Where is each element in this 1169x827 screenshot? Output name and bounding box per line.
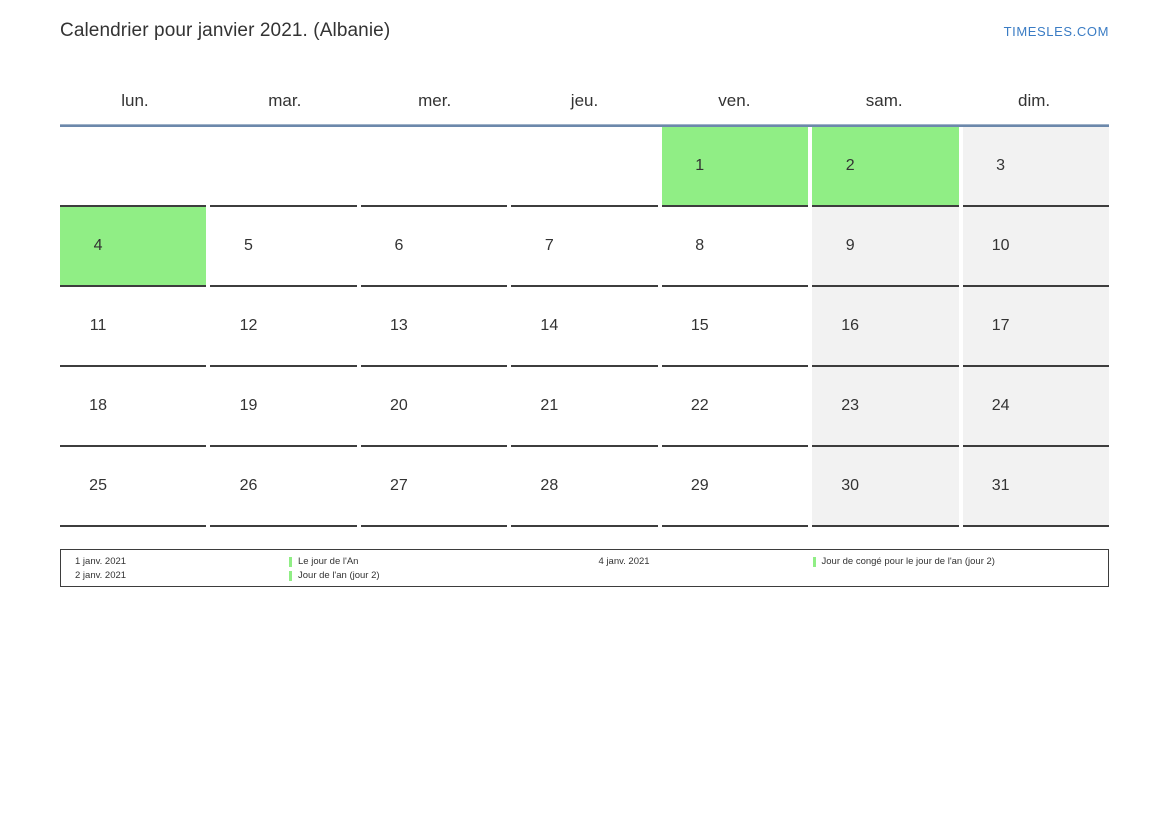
calendar-grid: lun.mar.mer.jeu.ven.sam.dim. 12345678910… (60, 78, 1109, 527)
day-cell-19[interactable]: 19 (210, 367, 356, 447)
holiday-color-swatch-icon (289, 571, 292, 581)
week-row: 18192021222324 (60, 367, 1109, 447)
day-number: 6 (394, 237, 403, 255)
day-cell-20[interactable]: 20 (361, 367, 507, 447)
day-cell-14[interactable]: 14 (511, 287, 657, 367)
day-cell-11[interactable]: 11 (60, 287, 206, 367)
day-number: 25 (89, 477, 107, 495)
day-number: 16 (841, 317, 859, 335)
day-number: 7 (545, 237, 554, 255)
holiday-legend: 1 janv. 2021Le jour de l'An2 janv. 2021J… (60, 549, 1109, 587)
day-number: 30 (841, 477, 859, 495)
holiday-color-swatch-icon (289, 557, 292, 567)
day-cell-5[interactable]: 5 (210, 207, 356, 287)
day-cell-22[interactable]: 22 (662, 367, 808, 447)
day-cell-1[interactable]: 1 (662, 127, 808, 207)
legend-date: 4 janv. 2021 (585, 555, 813, 568)
day-cell-3[interactable]: 3 (963, 127, 1109, 207)
day-cell-13[interactable]: 13 (361, 287, 507, 367)
weekday-header-ven: ven. (659, 78, 809, 124)
day-cell-10[interactable]: 10 (963, 207, 1109, 287)
day-number: 24 (992, 397, 1010, 415)
day-number: 9 (846, 237, 855, 255)
day-number: 29 (691, 477, 709, 495)
day-cell-6[interactable]: 6 (361, 207, 507, 287)
week-row: 11121314151617 (60, 287, 1109, 367)
day-number: 8 (695, 237, 704, 255)
legend-column: 1 janv. 2021Le jour de l'An2 janv. 2021J… (61, 555, 585, 586)
legend-columns: 1 janv. 2021Le jour de l'An2 janv. 2021J… (61, 550, 1108, 586)
day-number: 22 (691, 397, 709, 415)
day-cell-23[interactable]: 23 (812, 367, 958, 447)
weekday-header-sam: sam. (809, 78, 959, 124)
day-number: 28 (540, 477, 558, 495)
legend-holiday-name: Le jour de l'An (298, 555, 358, 568)
day-cell-4[interactable]: 4 (60, 207, 206, 287)
holiday-color-swatch-icon (813, 557, 816, 567)
day-number: 27 (390, 477, 408, 495)
legend-entry: 2 janv. 2021Jour de l'an (jour 2) (61, 569, 585, 582)
legend-holiday-name: Jour de congé pour le jour de l'an (jour… (822, 555, 995, 568)
day-number: 14 (540, 317, 558, 335)
day-number: 1 (695, 157, 704, 175)
day-cell-17[interactable]: 17 (963, 287, 1109, 367)
day-cell-empty (210, 127, 356, 207)
legend-holiday-name: Jour de l'an (jour 2) (298, 569, 380, 582)
day-number: 26 (240, 477, 258, 495)
day-cell-29[interactable]: 29 (662, 447, 808, 527)
day-number: 17 (992, 317, 1010, 335)
calendar-weeks: 1234567891011121314151617181920212223242… (60, 127, 1109, 527)
day-number: 5 (244, 237, 253, 255)
day-cell-24[interactable]: 24 (963, 367, 1109, 447)
day-cell-21[interactable]: 21 (511, 367, 657, 447)
day-cell-25[interactable]: 25 (60, 447, 206, 527)
day-number: 23 (841, 397, 859, 415)
weekday-header-dim: dim. (959, 78, 1109, 124)
day-cell-15[interactable]: 15 (662, 287, 808, 367)
week-row: 123 (60, 127, 1109, 207)
day-cell-26[interactable]: 26 (210, 447, 356, 527)
day-cell-2[interactable]: 2 (812, 127, 958, 207)
day-cell-28[interactable]: 28 (511, 447, 657, 527)
day-number: 19 (240, 397, 258, 415)
day-number: 13 (390, 317, 408, 335)
day-cell-9[interactable]: 9 (812, 207, 958, 287)
week-row: 25262728293031 (60, 447, 1109, 527)
day-number: 31 (992, 477, 1010, 495)
day-number: 20 (390, 397, 408, 415)
day-cell-18[interactable]: 18 (60, 367, 206, 447)
day-number: 2 (846, 157, 855, 175)
weekday-header-jeu: jeu. (510, 78, 660, 124)
day-number: 10 (992, 237, 1010, 255)
day-cell-empty (361, 127, 507, 207)
day-cell-27[interactable]: 27 (361, 447, 507, 527)
day-number: 12 (240, 317, 258, 335)
weekday-header-row: lun.mar.mer.jeu.ven.sam.dim. (60, 78, 1109, 124)
legend-entry: 1 janv. 2021Le jour de l'An (61, 555, 585, 568)
day-number: 15 (691, 317, 709, 335)
weekday-header-lun: lun. (60, 78, 210, 124)
calendar-page: Calendrier pour janvier 2021. (Albanie) … (0, 0, 1169, 827)
day-cell-empty (511, 127, 657, 207)
day-cell-7[interactable]: 7 (511, 207, 657, 287)
brand-link[interactable]: TIMESLES.COM (1004, 24, 1109, 39)
weekday-header-mar: mar. (210, 78, 360, 124)
day-number: 3 (996, 157, 1005, 175)
day-cell-empty (60, 127, 206, 207)
page-header: Calendrier pour janvier 2021. (Albanie) … (0, 0, 1169, 62)
page-title: Calendrier pour janvier 2021. (Albanie) (60, 20, 390, 42)
legend-date: 1 janv. 2021 (61, 555, 289, 568)
legend-entry: 4 janv. 2021Jour de congé pour le jour d… (585, 555, 1109, 568)
day-cell-16[interactable]: 16 (812, 287, 958, 367)
day-number: 4 (94, 237, 103, 255)
day-cell-12[interactable]: 12 (210, 287, 356, 367)
day-cell-8[interactable]: 8 (662, 207, 808, 287)
day-number: 21 (540, 397, 558, 415)
day-number: 11 (90, 317, 107, 335)
day-cell-30[interactable]: 30 (812, 447, 958, 527)
day-cell-31[interactable]: 31 (963, 447, 1109, 527)
legend-column: 4 janv. 2021Jour de congé pour le jour d… (585, 555, 1109, 586)
weekday-header-mer: mer. (360, 78, 510, 124)
legend-date: 2 janv. 2021 (61, 569, 289, 582)
week-row: 45678910 (60, 207, 1109, 287)
day-number: 18 (89, 397, 107, 415)
